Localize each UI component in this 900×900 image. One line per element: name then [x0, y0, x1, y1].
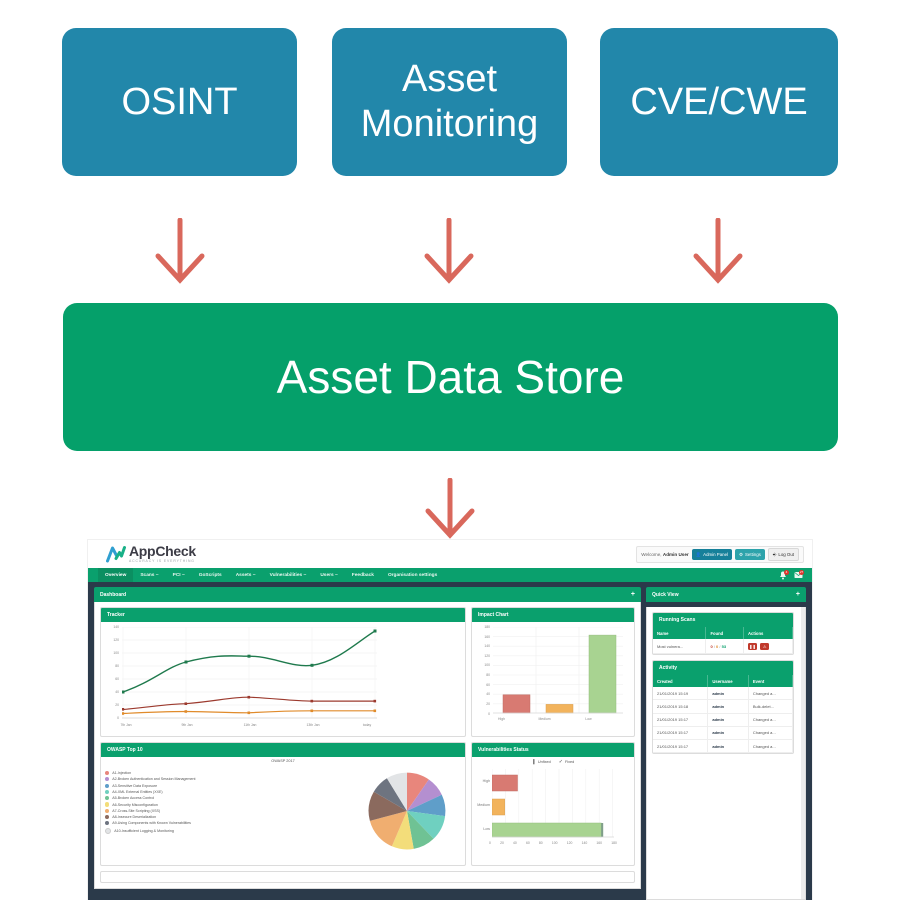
legend-item[interactable]: A2-Broken Authentication and Session Man… — [105, 777, 196, 781]
legend-item-unfixed[interactable]: ❙ Unfixed — [532, 759, 551, 765]
diagram-stage: OSINT Asset Monitoring CVE/CWE Asset Dat… — [0, 0, 900, 900]
impact-ytick: 20 — [478, 702, 490, 706]
panel-tracker-title: Tracker — [107, 612, 125, 618]
activity-event: Bulk-delet... — [748, 700, 792, 713]
page-title-bar: Dashboard + — [94, 587, 641, 602]
impact-ytick: 40 — [478, 692, 490, 696]
source-box-label: Asset Monitoring — [361, 57, 538, 147]
add-widget-button[interactable]: + — [631, 591, 635, 598]
panel-activity-header: Activity — [653, 661, 793, 675]
gear-icon: ⚙ — [739, 552, 743, 558]
brand-name: AppCheck — [129, 544, 196, 558]
tracker-ytick: 20 — [107, 703, 119, 707]
asset-data-store-box: Asset Data Store — [63, 303, 838, 451]
col-event: Event — [748, 675, 792, 687]
nav-item-feedback[interactable]: Feedback — [345, 568, 381, 582]
panel-impact-body: 180 160 140 120 100 80 60 40 20 — [472, 622, 634, 736]
col-actions: Actions — [744, 627, 793, 639]
impact-xtick: Low — [577, 717, 600, 721]
nav-item-pci[interactable]: PCI ~ — [166, 568, 192, 582]
tracker-plot — [122, 627, 377, 721]
vuln-xtick: 60 — [526, 841, 530, 845]
source-box-asset-monitoring: Asset Monitoring — [332, 28, 567, 176]
nav-item-users[interactable]: Users ~ — [313, 568, 344, 582]
user-bar: Welcome, Admin User 👤 Admin Panel ⚙ Sett… — [636, 546, 804, 563]
dashboard-main-column: Dashboard + Tracker — [94, 587, 641, 900]
tracker-xtick: today — [355, 723, 379, 727]
vuln-xtick: 100 — [552, 841, 558, 845]
vuln-xtick: 40 — [513, 841, 517, 845]
main-navigation: Overview Scans ~ PCI ~ GoScripts Assets … — [88, 568, 812, 582]
appcheck-logo-mark — [106, 545, 126, 563]
quick-view-column: Quick View + Running Scans Name — [646, 587, 806, 900]
vuln-xtick: 160 — [596, 841, 602, 845]
impact-ytick: 100 — [478, 663, 490, 667]
impact-ytick: 80 — [478, 673, 490, 677]
owasp-chart-title: OWASP 2017 — [101, 759, 465, 763]
legend-swatch-icon — [105, 809, 109, 813]
admin-panel-label: Admin Panel — [703, 552, 728, 557]
arrow-down-asset-monitoring — [421, 218, 477, 286]
check-icon: ✓ — [559, 759, 563, 765]
tracker-ytick: 80 — [107, 664, 119, 668]
legend-item[interactable]: A5-Broken Access Control — [105, 796, 196, 800]
activity-created: 21/01/2019 15:18 — [653, 700, 708, 713]
legend-item[interactable]: A7-Cross-Site Scripting (XSS) — [105, 809, 196, 813]
legend-label: A7-Cross-Site Scripting (XSS) — [112, 809, 160, 813]
panel-activity-title: Activity — [659, 665, 677, 671]
found-high: 0 — [710, 644, 712, 649]
legend-swatch-icon — [105, 815, 109, 819]
found-medium: 0 — [716, 644, 718, 649]
quick-view-title: Quick View — [652, 592, 679, 598]
legend-item[interactable]: A1-Injection — [105, 771, 196, 775]
quick-view-add-button[interactable]: + — [796, 591, 800, 598]
table-row[interactable]: 21/01/2019 15:19 admin Changed a... — [653, 687, 793, 700]
impact-ytick: 120 — [478, 654, 490, 658]
panel-owasp-title: OWASP Top 10 — [107, 747, 143, 753]
found-low: 53 — [722, 644, 726, 649]
activity-event: Changed a... — [748, 687, 792, 700]
asset-data-store-label: Asset Data Store — [277, 350, 625, 404]
legend-label: A3-Sensitive Data Exposure — [112, 784, 157, 788]
nav-item-organisation-settings[interactable]: Organisation settings — [381, 568, 444, 582]
source-box-osint: OSINT — [62, 28, 297, 176]
alert-icon[interactable]: ⚠ — [760, 643, 769, 650]
legend-label: A6-Security Misconfiguration — [112, 803, 158, 807]
dashboard-section: Dashboard + Tracker — [94, 587, 641, 889]
bell-badge-count: 4 — [784, 570, 789, 575]
panel-vulnerabilities-status: Vulnerabilities Status ❙ Unfixed — [471, 742, 635, 866]
quick-view-title-bar: Quick View + — [646, 587, 806, 602]
tracker-xtick: 13th Jan — [299, 723, 327, 727]
impact-ytick: 180 — [478, 625, 490, 629]
nav-item-goscripts[interactable]: GoScripts — [192, 568, 229, 582]
current-user-name: Admin User — [663, 552, 689, 557]
source-box-cve-cwe: CVE/CWE — [600, 28, 838, 176]
tracker-line-chart: 140 120 100 80 60 40 20 0 — [107, 627, 459, 731]
legend-item[interactable]: A9-Using Components with Known Vulnerabi… — [105, 821, 196, 825]
activity-table: Created Username Event 21/01/2019 15:19 … — [653, 675, 793, 753]
logout-icon: ⎆ — [773, 552, 777, 557]
nav-item-scans[interactable]: Scans ~ — [133, 568, 165, 582]
quick-view-body: Running Scans Name Found Actions — [646, 607, 806, 900]
legend-label: A4-XML External Entities (XXE) — [112, 790, 162, 794]
scan-found: 0 / 0 / 53 — [706, 639, 744, 654]
impact-bar-chart: 180 160 140 120 100 80 60 40 20 — [478, 627, 628, 731]
impact-plot — [493, 627, 623, 718]
admin-panel-button[interactable]: 👤 Admin Panel — [692, 549, 732, 560]
tracker-ytick: 100 — [107, 651, 119, 655]
dashboard-widgets-area: Tracker 140 120 100 80 60 — [94, 602, 641, 889]
envelope-icon[interactable]: 27 — [794, 571, 802, 580]
nav-item-overview[interactable]: Overview — [98, 568, 133, 582]
legend-label: A2-Broken Authentication and Session Man… — [112, 777, 195, 781]
legend-label: A1-Injection — [112, 771, 131, 775]
settings-button[interactable]: ⚙ Settings — [735, 549, 765, 560]
owasp-pie-chart — [367, 771, 447, 851]
panel-activity: Activity Created Username Event — [652, 660, 794, 754]
logout-label: Log Out — [778, 552, 794, 557]
activity-event: Changed a... — [748, 739, 792, 752]
table-row[interactable]: 21/01/2019 15:17 admin Changed a... — [653, 726, 793, 739]
vertical-scrollbar[interactable] — [801, 607, 805, 899]
activity-created: 21/01/2019 15:17 — [653, 739, 708, 752]
tracker-ytick: 0 — [107, 716, 119, 720]
tracker-xtick: 7th Jan — [112, 723, 140, 727]
activity-username: admin — [708, 700, 748, 713]
vuln-xtick: 120 — [567, 841, 573, 845]
legend-label: A5-Broken Access Control — [112, 796, 154, 800]
activity-event: Changed a... — [748, 713, 792, 726]
welcome-prefix: Welcome, — [641, 552, 661, 557]
impact-ytick: 160 — [478, 635, 490, 639]
owasp-legend: A1-Injection A2-Broken Authentication an… — [105, 771, 196, 836]
legend-item[interactable]: A3-Sensitive Data Exposure — [105, 784, 196, 788]
legend-swatch-icon — [105, 821, 109, 825]
vuln-status-legend: ❙ Unfixed ✓ Fixed — [472, 759, 634, 765]
activity-username: admin — [708, 726, 748, 739]
panel-impact-chart: Impact Chart 180 160 140 120 100 — [471, 607, 635, 737]
vuln-xtick: 0 — [489, 841, 491, 845]
scan-name: Most vulnera... — [653, 639, 706, 654]
panel-running-scans-title: Running Scans — [659, 617, 695, 623]
legend-swatch-icon — [105, 802, 109, 806]
dashboard-topbar: AppCheck ACCURACY IS EVERYTHING Welcome,… — [88, 540, 812, 568]
appcheck-dashboard-screenshot: AppCheck ACCURACY IS EVERYTHING Welcome,… — [88, 540, 812, 900]
arrow-down-osint — [152, 218, 208, 286]
vuln-ytick: Low — [474, 827, 490, 831]
activity-username: admin — [708, 687, 748, 700]
appcheck-logo[interactable]: AppCheck ACCURACY IS EVERYTHING — [106, 544, 196, 563]
page-title: Dashboard — [100, 592, 126, 598]
vuln-xticks: 0 20 40 60 80 100 120 140 160 — [489, 841, 617, 845]
vuln-ytick: High — [474, 779, 490, 783]
panel-tracker-header: Tracker — [101, 608, 465, 622]
col-name: Name — [653, 627, 706, 639]
legend-swatch-icon — [105, 784, 109, 788]
arrow-down-cve-cwe — [690, 218, 746, 286]
panel-running-scans-header: Running Scans — [653, 613, 793, 627]
table-header-row: Name Found Actions — [653, 627, 793, 639]
activity-created: 21/01/2019 15:17 — [653, 713, 708, 726]
activity-username: admin — [708, 713, 748, 726]
legend-label: A10-Insufficient Logging & Monitoring — [114, 829, 174, 833]
impact-ytick: 0 — [478, 712, 490, 716]
source-box-label: CVE/CWE — [630, 80, 807, 125]
nav-item-assets[interactable]: Assets ~ — [229, 568, 263, 582]
legend-label: A8-Insecure Deserialization — [112, 815, 156, 819]
nav-icons: 4 27 — [779, 571, 802, 580]
table-row[interactable]: Most vulnera... 0 / 0 / 53 — [653, 639, 793, 654]
col-username: Username — [708, 675, 748, 687]
envelope-badge-count: 27 — [799, 570, 804, 575]
legend-swatch-icon — [105, 777, 109, 781]
scan-actions: ❚❚ ⚠ — [744, 639, 793, 654]
nav-item-vulnerabilities[interactable]: Vulnerabilities ~ — [263, 568, 314, 582]
tracker-ytick: 120 — [107, 638, 119, 642]
activity-created: 21/01/2019 15:19 — [653, 687, 708, 700]
col-created: Created — [653, 675, 708, 687]
table-row[interactable]: 21/01/2019 15:18 admin Bulk-delet... — [653, 700, 793, 713]
panel-owasp-top10: OWASP Top 10 OWASP 2017 A1-Injection A2-… — [100, 742, 466, 866]
legend-swatch-icon — [105, 771, 109, 775]
vuln-status-plot — [492, 769, 614, 843]
legend-swatch-icon — [105, 790, 109, 794]
settings-label: Settings — [745, 552, 761, 557]
table-header-row: Created Username Event — [653, 675, 793, 687]
tracker-xtick: 9th Jan — [173, 723, 201, 727]
tracker-ytick: 40 — [107, 690, 119, 694]
legend-item[interactable]: A8-Insecure Deserialization — [105, 815, 196, 819]
panel-tracker: Tracker 140 120 100 80 60 — [100, 607, 466, 737]
legend-label: Fixed — [565, 760, 574, 764]
table-row[interactable]: 21/01/2019 15:17 admin Changed a... — [653, 713, 793, 726]
panel-owasp-body: OWASP 2017 A1-Injection A2-Broken Authen… — [101, 757, 465, 865]
running-scans-table: Name Found Actions Most vulnera... 0 — [653, 627, 793, 654]
impact-xtick: Medium — [532, 717, 557, 721]
unfixed-icon: ❙ — [532, 759, 536, 765]
panel-next-partial — [100, 871, 635, 883]
legend-label: A9-Using Components with Known Vulnerabi… — [112, 821, 191, 825]
legend-swatch-icon — [105, 828, 111, 834]
legend-swatch-icon — [105, 796, 109, 800]
panel-impact-title: Impact Chart — [478, 612, 509, 618]
vuln-xtick: 80 — [539, 841, 543, 845]
table-row[interactable]: 21/01/2019 15:17 admin Changed a... — [653, 739, 793, 752]
dashboard-body: Dashboard + Tracker — [88, 582, 812, 900]
source-box-label: OSINT — [121, 80, 237, 125]
impact-ytick: 140 — [478, 644, 490, 648]
legend-item[interactable]: A10-Insufficient Logging & Monitoring — [105, 828, 196, 834]
panel-impact-header: Impact Chart — [472, 608, 634, 622]
tracker-ytick: 140 — [107, 625, 119, 629]
panel-vuln-status-title: Vulnerabilities Status — [478, 747, 529, 753]
legend-item[interactable]: A4-XML External Entities (XXE) — [105, 790, 196, 794]
impact-ytick: 60 — [478, 683, 490, 687]
impact-xtick: High — [490, 717, 513, 721]
legend-item-fixed[interactable]: ✓ Fixed — [559, 759, 575, 765]
vuln-xtick: 140 — [582, 841, 588, 845]
pause-icon[interactable]: ❚❚ — [748, 643, 757, 650]
logout-button[interactable]: ⎆ Log Out — [768, 548, 799, 560]
welcome-text: Welcome, Admin User — [641, 552, 688, 557]
activity-username: admin — [708, 739, 748, 752]
activity-event: Changed a... — [748, 726, 792, 739]
legend-label: Unfixed — [538, 760, 551, 764]
arrow-down-to-dashboard — [422, 478, 478, 540]
brand-tagline: ACCURACY IS EVERYTHING — [129, 560, 196, 563]
panel-vuln-status-header: Vulnerabilities Status — [472, 743, 634, 757]
vuln-ytick: Medium — [474, 803, 490, 807]
panel-vuln-status-body: ❙ Unfixed ✓ Fixed High — [472, 757, 634, 865]
vuln-xtick: 180 — [611, 841, 617, 845]
tracker-ytick: 60 — [107, 677, 119, 681]
bell-icon[interactable]: 4 — [779, 571, 787, 580]
tracker-xtick: 11th Jan — [236, 723, 264, 727]
panel-owasp-header: OWASP Top 10 — [101, 743, 465, 757]
panel-running-scans: Running Scans Name Found Actions — [652, 612, 794, 655]
col-found: Found — [706, 627, 744, 639]
user-icon: 👤 — [696, 552, 701, 558]
panel-tracker-body: 140 120 100 80 60 40 20 0 — [101, 622, 465, 736]
legend-item[interactable]: A6-Security Misconfiguration — [105, 802, 196, 806]
vuln-xtick: 20 — [500, 841, 504, 845]
activity-created: 21/01/2019 15:17 — [653, 726, 708, 739]
